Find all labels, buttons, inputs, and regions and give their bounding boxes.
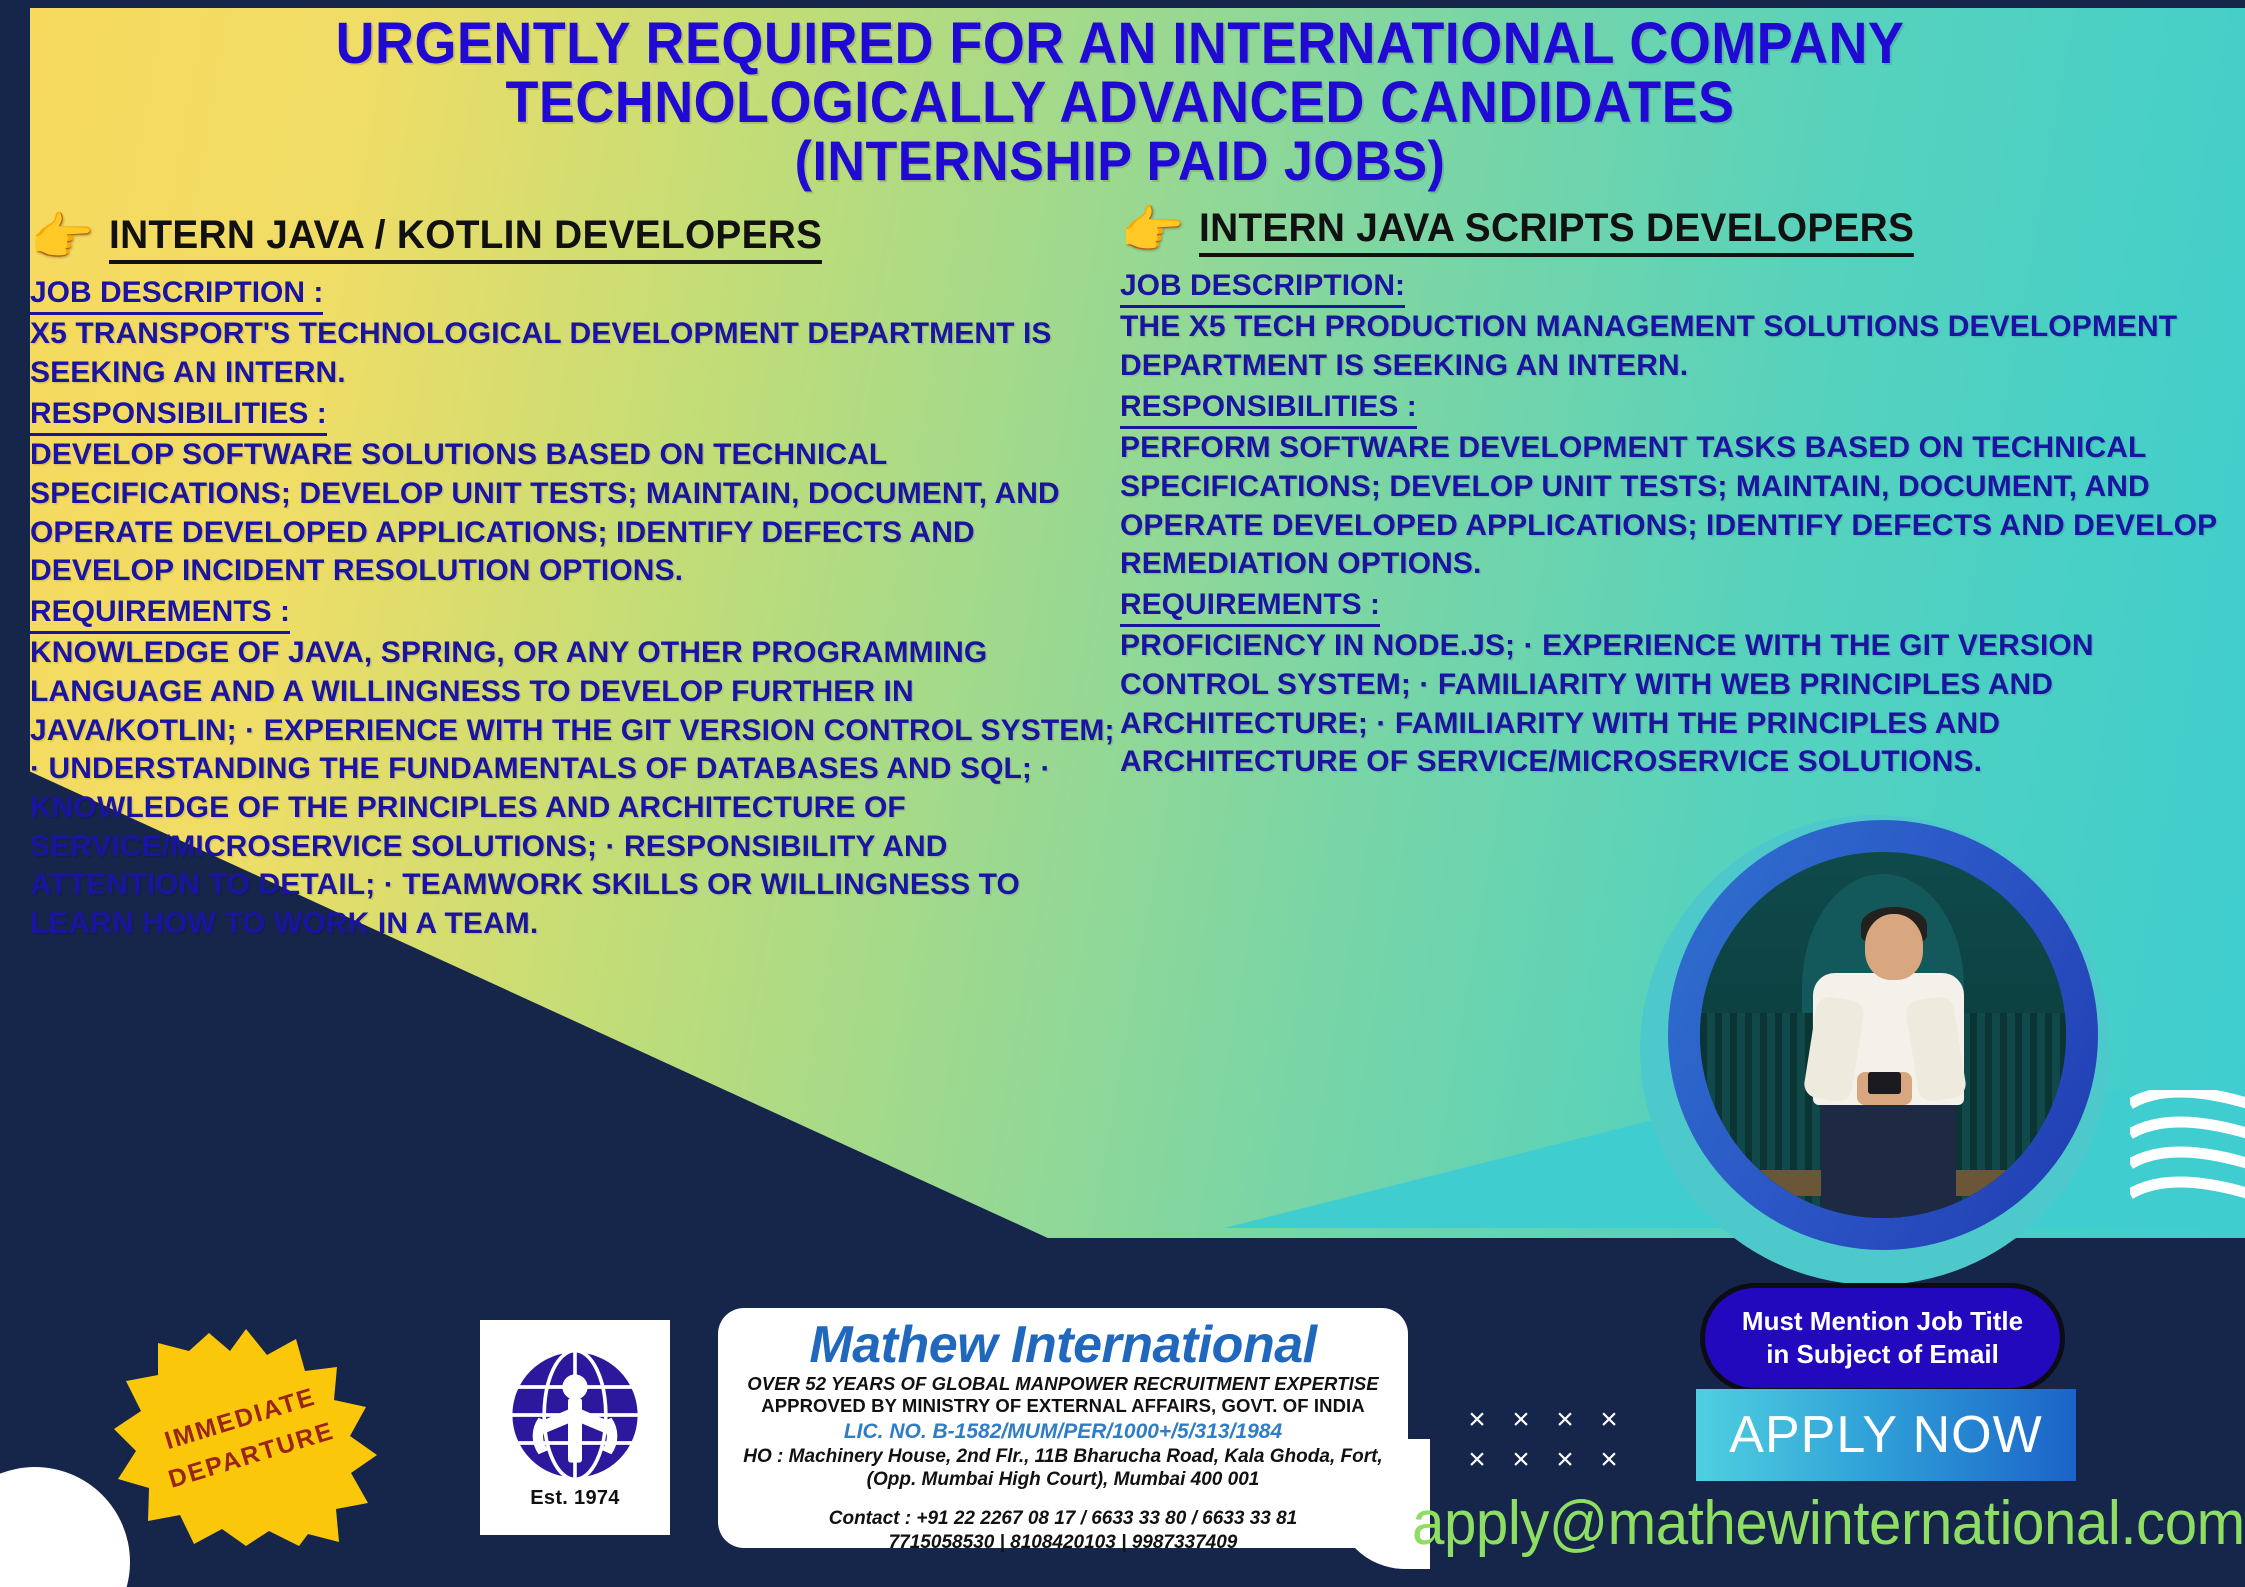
company-address-line-2: (Opp. Mumbai High Court), Mumbai 400 001 — [732, 1468, 1394, 1491]
left-requirements-text: KNOWLEDGE OF JAVA, SPRING, OR ANY OTHER … — [30, 634, 1120, 944]
page-title: URGENTLY REQUIRED FOR AN INTERNATIONAL C… — [60, 14, 2180, 189]
company-approval: APPROVED BY MINISTRY OF EXTERNAL AFFAIRS… — [732, 1395, 1394, 1418]
candidate-photo — [1700, 852, 2066, 1218]
left-responsibilities-label: RESPONSIBILITIES : — [30, 395, 327, 436]
note-line-2: in Subject of Email — [1742, 1338, 2023, 1371]
recruitment-poster: URGENTLY REQUIRED FOR AN INTERNATIONAL C… — [0, 0, 2245, 1587]
pointing-hand-icon: 👉 — [30, 212, 95, 264]
apply-now-label: APPLY NOW — [1729, 1405, 2042, 1465]
x-marks-decoration: × × × × × × × × — [1455, 1400, 1631, 1480]
established-year: Est. 1974 — [530, 1487, 619, 1510]
mathew-globe-logo-icon — [505, 1345, 645, 1485]
right-requirements-label: REQUIREMENTS : — [1120, 586, 1380, 627]
title-line-1: URGENTLY REQUIRED FOR AN INTERNATIONAL C… — [134, 14, 2106, 73]
immediate-departure-badge: IMMEDIATE DEPARTURE — [112, 1325, 380, 1550]
x-icon: × — [1455, 1440, 1499, 1480]
background-left-edge — [0, 0, 30, 1000]
right-responsibilities-text: PERFORM SOFTWARE DEVELOPMENT TASKS BASED… — [1120, 429, 2230, 584]
x-icon: × — [1543, 1440, 1587, 1480]
x-icon: × — [1499, 1440, 1543, 1480]
left-column-header: 👉 INTERN JAVA / KOTLIN DEVELOPERS — [30, 212, 1120, 264]
company-contact-line-2: 7715058530 | 8108420103 | 9987337409 — [732, 1531, 1394, 1554]
company-info-card: Mathew International OVER 52 YEARS OF GL… — [718, 1308, 1408, 1548]
left-job-description-label: JOB DESCRIPTION : — [30, 274, 323, 315]
x-icon: × — [1587, 1440, 1631, 1480]
right-job-description-label: JOB DESCRIPTION: — [1120, 267, 1405, 308]
right-job-description-text: THE X5 TECH PRODUCTION MANAGEMENT SOLUTI… — [1120, 308, 2230, 385]
right-requirements-text: PROFICIENCY IN NODE.JS; · EXPERIENCE WIT… — [1120, 627, 2230, 782]
subject-line-note: Must Mention Job Title in Subject of Ema… — [1700, 1283, 2065, 1393]
company-name: Mathew International — [732, 1318, 1394, 1373]
company-contact-line-1: Contact : +91 22 2267 08 17 / 6633 33 80… — [732, 1507, 1394, 1531]
left-requirements-part2: · UNDERSTANDING THE FUNDAMENTALS OF DATA… — [30, 752, 1051, 940]
company-license: LIC. NO. B-1582/MUM/PER/1000+/5/313/1984 — [732, 1418, 1394, 1445]
x-icon: × — [1543, 1400, 1587, 1440]
left-job-column: 👉 INTERN JAVA / KOTLIN DEVELOPERS JOB DE… — [30, 212, 1120, 944]
title-line-2: TECHNOLOGICALLY ADVANCED CANDIDATES — [134, 73, 2106, 132]
wave-lines-decoration — [2130, 1090, 2245, 1225]
right-column-header: 👉 INTERN JAVA SCRIPTS DEVELOPERS — [1120, 205, 2230, 257]
right-column-body: JOB DESCRIPTION: THE X5 TECH PRODUCTION … — [1120, 265, 2230, 782]
left-requirements-label: REQUIREMENTS : — [30, 593, 290, 634]
right-responsibilities-label: RESPONSIBILITIES : — [1120, 388, 1417, 429]
apply-now-button[interactable]: APPLY NOW — [1696, 1389, 2076, 1481]
left-job-description-text: X5 TRANSPORT'S TECHNOLOGICAL DEVELOPMENT… — [30, 315, 1120, 392]
company-logo-card: Est. 1974 — [480, 1320, 670, 1535]
apply-email-address[interactable]: apply@mathewinternational.com — [1412, 1488, 2245, 1559]
x-icon: × — [1455, 1400, 1499, 1440]
subject-line-note-text: Must Mention Job Title in Subject of Ema… — [1742, 1305, 2023, 1372]
left-column-body: JOB DESCRIPTION : X5 TRANSPORT'S TECHNOL… — [30, 272, 1120, 944]
note-line-1: Must Mention Job Title — [1742, 1305, 2023, 1338]
right-job-column: 👉 INTERN JAVA SCRIPTS DEVELOPERS JOB DES… — [1120, 205, 2230, 782]
left-job-title: INTERN JAVA / KOTLIN DEVELOPERS — [109, 213, 822, 264]
right-job-title: INTERN JAVA SCRIPTS DEVELOPERS — [1199, 206, 1914, 257]
x-icon: × — [1499, 1400, 1543, 1440]
company-tagline: OVER 52 YEARS OF GLOBAL MANPOWER RECRUIT… — [732, 1373, 1394, 1396]
x-icon: × — [1587, 1400, 1631, 1440]
left-responsibilities-text: DEVELOP SOFTWARE SOLUTIONS BASED ON TECH… — [30, 436, 1120, 591]
left-requirements-part1: KNOWLEDGE OF JAVA, SPRING, OR ANY OTHER … — [30, 636, 1115, 746]
pointing-hand-icon: 👉 — [1120, 205, 1185, 257]
title-line-3: (INTERNSHIP PAID JOBS) — [134, 132, 2106, 189]
company-address-line-1: HO : Machinery House, 2nd Flr., 11B Bhar… — [732, 1445, 1394, 1468]
